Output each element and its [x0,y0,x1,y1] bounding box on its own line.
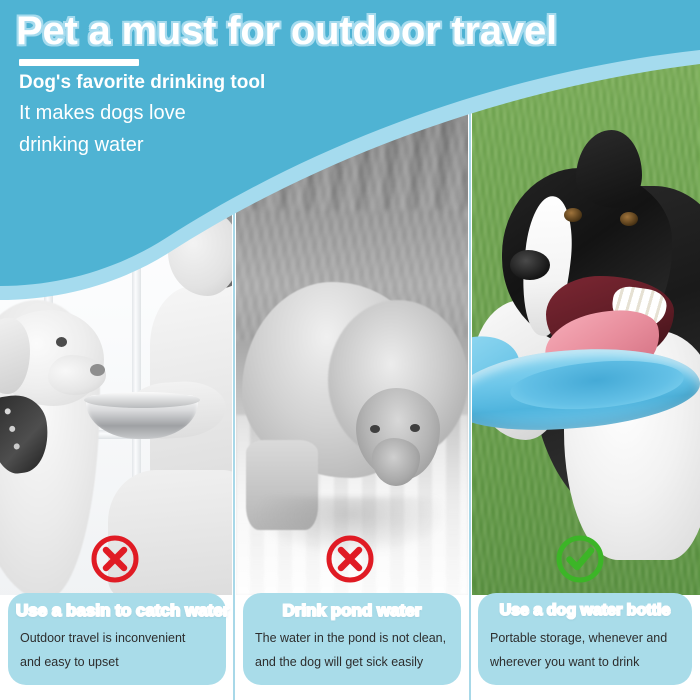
caption-card-panel-2: Drink pond water The water in the pond i… [243,593,461,685]
caption-body: The water in the pond is not clean, and … [251,626,453,674]
caption-body-line: Outdoor travel is inconvenient [20,626,218,650]
title-underline-rule [19,59,139,66]
caption-body-line: and the dog will get sick easily [255,650,453,674]
golden-retriever-eye [56,337,67,347]
panel-2-photo [236,0,468,595]
caption-body-line: Portable storage, whenever and [490,626,684,650]
border-collie-eye-right [620,212,638,226]
caption-body-line: The water in the pond is not clean, [255,626,453,650]
red-x-circle-icon [325,534,375,584]
border-collie-nose [510,250,550,280]
product-infographic-poster: Pet a must for outdoor travel Dog's favo… [0,0,700,700]
page-tagline: It makes dogs love drinking water [19,97,249,161]
caption-body-line: and easy to upset [20,650,218,674]
caption-card-panel-3: Use a dog water bottle Portable storage,… [478,593,692,685]
border-collie-eye-left [564,208,582,222]
panel-3-photo [472,0,700,595]
large-dog-eye-right [410,424,420,432]
page-title: Pet a must for outdoor travel [16,8,557,54]
caption-heading: Use a basin to catch water [16,600,218,622]
caption-body: Portable storage, whenever and wherever … [486,626,684,674]
metal-water-bowl-rim [84,392,200,408]
page-subtitle: Dog's favorite drinking tool [19,70,265,96]
golden-retriever-nose [90,364,105,376]
caption-heading: Use a dog water bottle [486,600,684,622]
caption-body-line: wherever you want to drink [490,650,684,674]
caption-row: Use a basin to catch water Outdoor trave… [0,590,700,700]
caption-body: Outdoor travel is inconvenient and easy … [16,626,218,674]
caption-heading: Drink pond water [251,600,453,622]
large-dog-eye-left [370,425,380,433]
caption-card-panel-1: Use a basin to catch water Outdoor trave… [8,593,226,685]
green-check-circle-icon [555,534,605,584]
red-x-circle-icon [90,534,140,584]
